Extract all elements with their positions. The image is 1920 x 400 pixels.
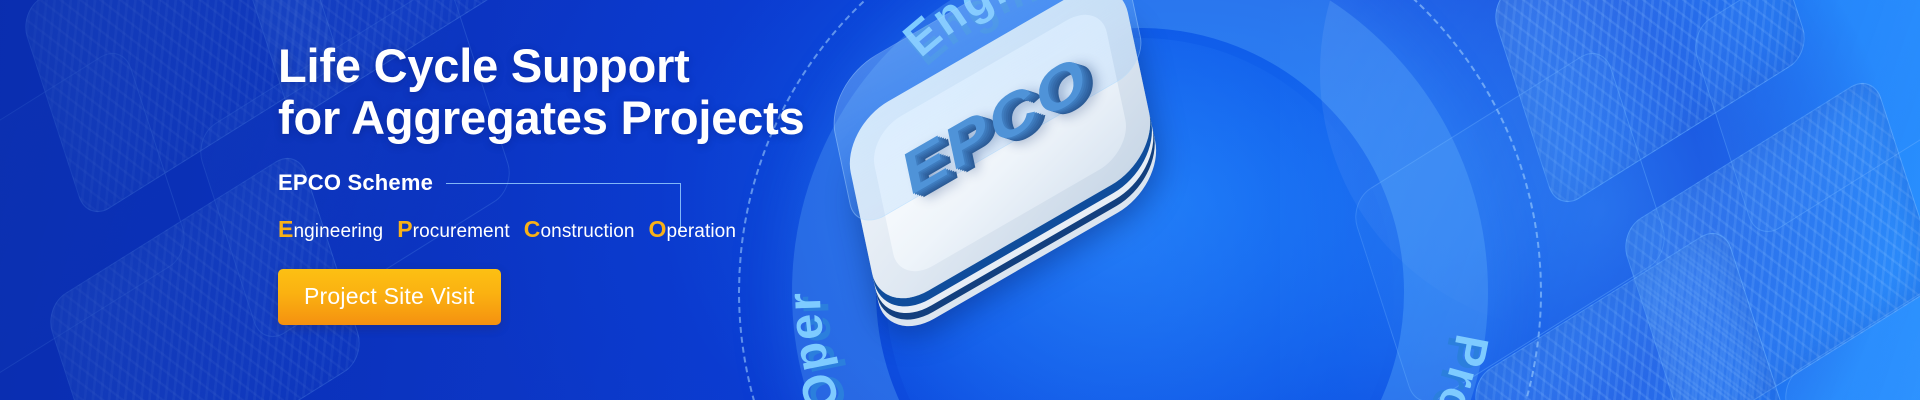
headline-line-2: for Aggregates Projects xyxy=(278,92,978,144)
project-site-visit-button[interactable]: Project Site Visit xyxy=(278,269,501,325)
acronym-rest-e: ngineering xyxy=(293,221,383,242)
epco-acronym: EngineeringProcurementConstructionOperat… xyxy=(278,216,978,243)
hero-banner: Engineering Procurement Construction Ope… xyxy=(0,0,1920,400)
acronym-item-procurement: Procurement xyxy=(397,216,510,243)
ring-label-procurement: Procurement xyxy=(1281,330,1500,400)
acronym-item-operation: Operation xyxy=(649,216,736,243)
acronym-cap-c: C xyxy=(524,216,541,242)
acronym-cap-p: P xyxy=(397,216,412,242)
acronym-rest-c: onstruction xyxy=(540,221,634,242)
page-title: Life Cycle Support for Aggregates Projec… xyxy=(278,40,978,144)
hero-copy: Life Cycle Support for Aggregates Projec… xyxy=(278,40,978,325)
acronym-item-construction: Construction xyxy=(524,216,635,243)
acronym-rest-p: rocurement xyxy=(413,221,510,242)
scheme-row: EPCO Scheme xyxy=(278,170,978,196)
headline-line-1: Life Cycle Support xyxy=(278,39,690,92)
acronym-item-engineering: Engineering xyxy=(278,216,383,243)
scheme-label: EPCO Scheme xyxy=(278,170,433,196)
acronym-cap-e: E xyxy=(278,216,293,242)
acronym-cap-o: O xyxy=(649,216,667,242)
acronym-rest-o: peration xyxy=(667,221,736,242)
